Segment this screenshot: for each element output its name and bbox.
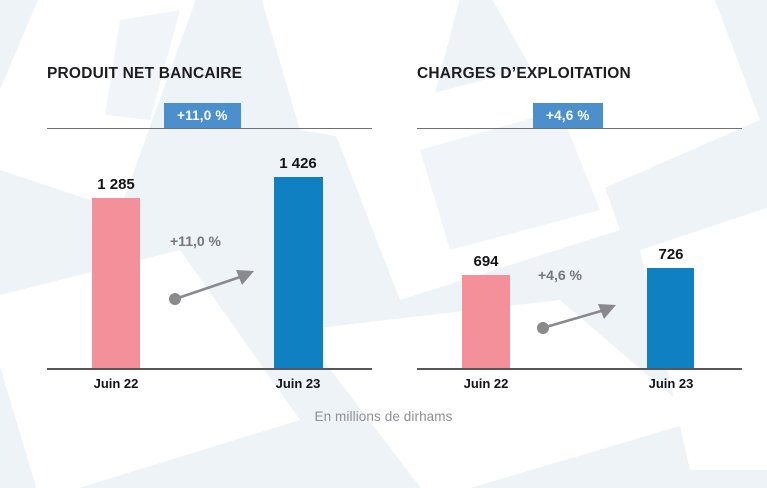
axis-baseline (417, 368, 742, 370)
bar-value-juin-23: 1 426 (248, 155, 348, 172)
growth-annotation-label: +4,6 % (538, 267, 582, 283)
axis-baseline (47, 368, 372, 370)
bar-juin-22 (92, 198, 140, 368)
growth-badge: +11,0 % (164, 103, 241, 128)
bar-juin-23 (274, 177, 323, 368)
header-rule (47, 128, 372, 129)
bar-value-juin-22: 1 285 (66, 176, 166, 193)
bar-juin-22 (462, 275, 510, 368)
bar-value-juin-22: 694 (436, 253, 536, 270)
category-label-juin-22: Juin 22 (66, 376, 166, 391)
header-rule (417, 128, 742, 129)
category-label-juin-23: Juin 23 (621, 376, 721, 391)
panel-title: PRODUIT NET BANCAIRE (47, 65, 242, 83)
chart-stage: PRODUIT NET BANCAIRE +11,0 % 1 285 1 426… (0, 0, 767, 488)
bar-juin-23 (647, 268, 694, 368)
growth-arrow-icon (166, 265, 262, 309)
panel-title: CHARGES D’EXPLOITATION (417, 65, 631, 83)
growth-badge: +4,6 % (533, 103, 603, 128)
growth-arrow-icon (534, 300, 624, 342)
category-label-juin-23: Juin 23 (248, 376, 348, 391)
footer-caption: En millions de dirhams (0, 409, 767, 424)
category-label-juin-22: Juin 22 (436, 376, 536, 391)
growth-annotation-label: +11,0 % (170, 233, 221, 249)
bar-value-juin-23: 726 (621, 246, 721, 263)
